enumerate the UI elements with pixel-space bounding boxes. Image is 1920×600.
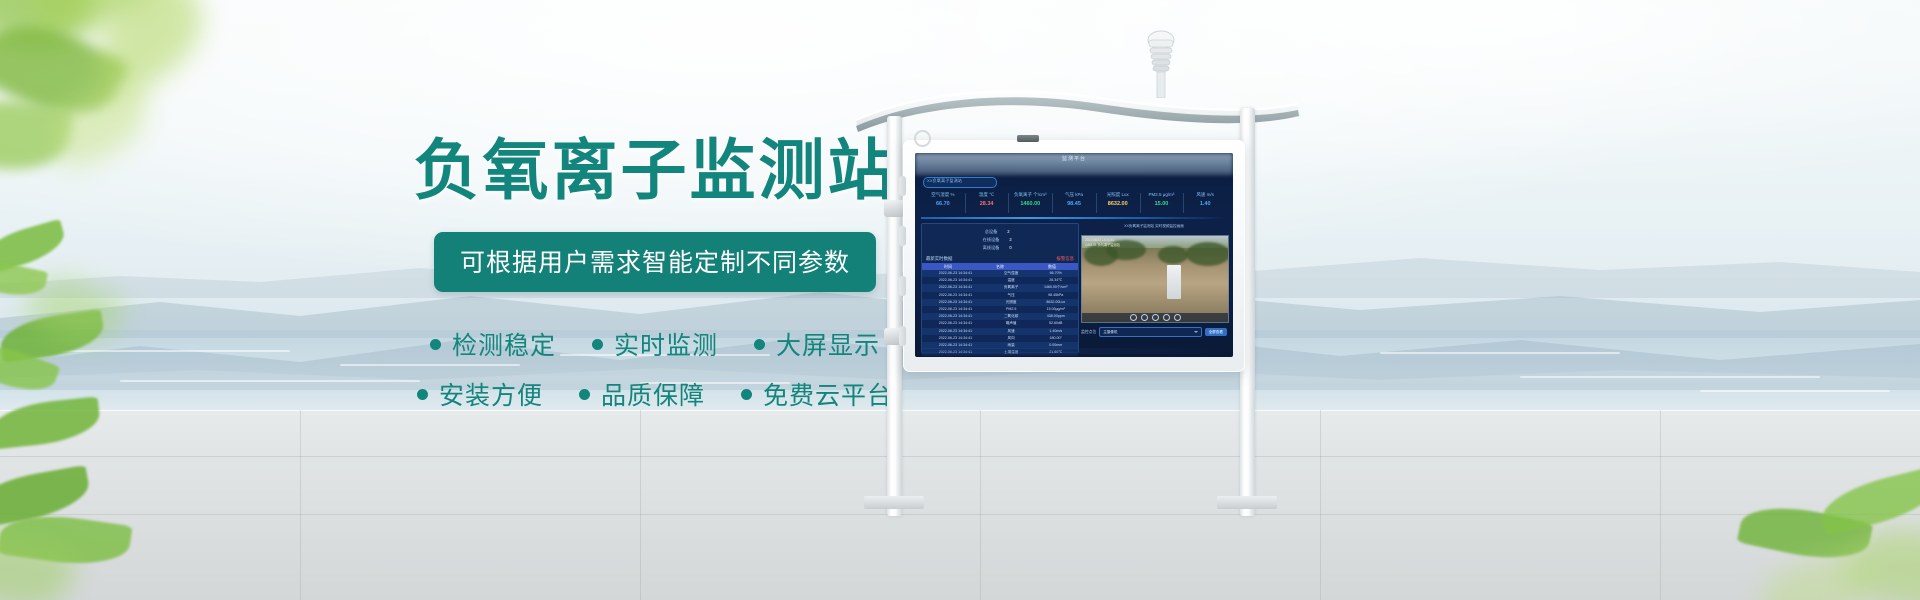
housing-hook-icon (914, 130, 931, 147)
table-row: 2022-06-23 14:34:41 风向 180.00° (922, 335, 1078, 342)
camera-select-label: 监控点位 (1081, 330, 1096, 335)
camera-station-object (1167, 265, 1181, 299)
housing-mount-ear (899, 326, 906, 346)
fullscreen-icon[interactable] (1174, 314, 1181, 321)
housing-mount-ear (899, 176, 906, 196)
column-header: 时间 (922, 263, 974, 270)
snapshot-icon[interactable] (1152, 314, 1159, 321)
counter-value: 2 (1009, 236, 1017, 244)
cell-value: 52.60dB (1033, 320, 1078, 327)
pause-icon[interactable] (1141, 314, 1148, 321)
post-clamp-upper (884, 200, 905, 217)
metric-value: 1460.00 (1008, 199, 1052, 209)
cell-name: 光照度 (989, 299, 1034, 306)
metric-card: 负氧离子 个/cm³ 1460.00 (1008, 190, 1052, 216)
cell-name: 噪声值 (989, 320, 1034, 327)
cell-name: 风速 (989, 328, 1034, 335)
cell-time: 2022-06-23 14:34:41 (922, 292, 989, 299)
housing-mount-ear (899, 276, 906, 296)
camera-caption: XX负氧离子监测站 实时视频监控画面 (1081, 223, 1227, 229)
dashboard-right-panel: ⚙ XX负氧离子监测站 实时视频监控画面 2022/06/23 14:34:41… (1081, 223, 1227, 351)
column-header: 名称 (974, 263, 1026, 270)
cell-value: 1460.00个/cm³ (1033, 284, 1078, 291)
cell-name: 温度 (989, 277, 1034, 284)
metric-value: 15.00 (1140, 199, 1184, 209)
kiosk-base-left (864, 496, 924, 509)
counter-label: 在线设备 (983, 236, 1000, 244)
metric-value: 8632.00 (1096, 199, 1140, 209)
metric-label: PM2.5 μg/m³ (1140, 190, 1184, 199)
table-title: 最新实时数据 (926, 256, 952, 262)
bullet-dot-icon (417, 389, 428, 400)
bullet-dot-icon (592, 339, 603, 350)
counter-value: 2 (1007, 228, 1015, 236)
subtitle-pill: 可根据用户需求智能定制不同参数 (434, 232, 876, 292)
site-selector-label: XX负氧离子监测站 (927, 178, 962, 184)
feature-label: 安装方便 (439, 376, 543, 412)
counter-row: 离线设备 0 (922, 244, 1078, 252)
feature-label: 实时监测 (614, 326, 718, 362)
metric-label: 光照度 Lux (1096, 190, 1140, 199)
cell-name: 风向 (989, 335, 1034, 342)
cell-name: 二氧化碳 (989, 313, 1034, 320)
metric-label: 风速 m/s (1183, 190, 1227, 199)
camera-video-feed[interactable]: 2022/06/23 14:34:41 CAM-01 负氧离子监测站 (1081, 235, 1229, 323)
feature-item: 检测稳定 (430, 326, 556, 362)
counter-label: 离线设备 (983, 244, 1000, 252)
cell-name: 气压 (989, 292, 1034, 299)
cell-value: 66.70% (1033, 270, 1078, 277)
metric-value: 1.40 (1183, 199, 1227, 209)
cell-time: 2022-06-23 14:34:41 (922, 299, 989, 306)
counter-row: 在线设备 2 (922, 236, 1078, 244)
housing-mount-ear (899, 226, 906, 246)
camera-fullscreen-button[interactable]: 全屏查看 (1205, 328, 1227, 336)
banner-root: 负氧离子监测站 可根据用户需求智能定制不同参数 检测稳定 实时监测 大屏显示 (0, 0, 1920, 600)
cell-time: 2022-06-23 14:34:41 (922, 270, 989, 277)
table-row: 2022-06-23 14:34:41 PM2.5 15.00μg/m³ (922, 306, 1078, 313)
counter-label: 总设备 (985, 228, 998, 236)
counter-row: 总设备 2 (922, 228, 1078, 236)
feature-item: 安装方便 (417, 376, 543, 412)
device-counters: 总设备 2 在线设备 2 离线设备 0 (922, 224, 1078, 255)
metric-card: PM2.5 μg/m³ 15.00 (1140, 190, 1184, 216)
metric-label: 气压 kPa (1052, 190, 1096, 199)
feature-label: 品质保障 (601, 376, 705, 412)
table-row: 2022-06-23 14:34:41 二氧化碳 438.00ppm (922, 313, 1078, 320)
housing-latch-icon (1017, 135, 1039, 142)
feature-label: 检测稳定 (452, 326, 556, 362)
metric-value: 66.70 (921, 199, 965, 209)
feature-item: 品质保障 (579, 376, 705, 412)
alarm-label[interactable]: 报警信息 (1056, 256, 1074, 262)
dashboard-title: 监测平台 (915, 155, 1233, 162)
outdoor-monitoring-kiosk: 监测平台 XX负氧离子监测站 空气湿度 % 66.70 温度 ℃ 28.34 负… (836, 28, 1316, 600)
column-header: 数值 (1026, 263, 1078, 270)
display-housing: 监测平台 XX负氧离子监测站 空气湿度 % 66.70 温度 ℃ 28.34 负… (903, 140, 1245, 372)
bullet-dot-icon (579, 389, 590, 400)
camera-osd-line2: CAM-01 负氧离子监测站 (1085, 243, 1120, 248)
cell-name: PM2.5 (989, 306, 1034, 313)
data-table-body: 2022-06-23 14:34:41 空气湿度 66.70% 2022-06-… (922, 270, 1078, 356)
counter-value: 0 (1009, 244, 1017, 252)
table-row: 2022-06-23 14:34:41 风速 1.40m/s (922, 328, 1078, 335)
metric-card: 气压 kPa 98.45 (1052, 190, 1096, 216)
camera-osd-overlay: 2022/06/23 14:34:41 CAM-01 负氧离子监测站 (1085, 238, 1120, 248)
table-row: 2022-06-23 14:34:41 负氧离子 1460.00个/cm³ (922, 284, 1078, 291)
table-column-headers: 时间 名称 数值 (922, 263, 1078, 270)
table-header-bar: 最新实时数据 报警信息 (922, 255, 1078, 263)
camera-select-dropdown[interactable]: 主摄像机 (1099, 327, 1201, 337)
cell-time: 2022-06-23 14:34:41 (922, 306, 989, 313)
table-row: 2022-06-23 14:34:41 噪声值 52.60dB (922, 320, 1078, 327)
metric-card: 空气湿度 % 66.70 (921, 190, 965, 216)
cell-value: 180.00° (1033, 335, 1078, 342)
cell-time: 2022-06-23 14:34:41 (922, 284, 989, 291)
bullet-dot-icon (741, 389, 752, 400)
monitoring-dashboard-screen[interactable]: 监测平台 XX负氧离子监测站 空气湿度 % 66.70 温度 ℃ 28.34 负… (915, 153, 1233, 357)
dashboard-footer-strip (921, 348, 1227, 354)
cell-value: 15.00μg/m³ (1033, 306, 1078, 313)
metric-card: 风速 m/s 1.40 (1183, 190, 1227, 216)
camera-control-bar[interactable] (1082, 313, 1228, 322)
bullet-dot-icon (754, 339, 765, 350)
metric-card-row: 空气湿度 % 66.70 温度 ℃ 28.34 负氧离子 个/cm³ 1460.… (921, 190, 1227, 216)
metric-value: 98.45 (1052, 199, 1096, 209)
play-icon[interactable] (1130, 314, 1137, 321)
metric-label: 负氧离子 个/cm³ (1008, 190, 1052, 199)
cell-value: 438.00ppm (1033, 313, 1078, 320)
record-icon[interactable] (1163, 314, 1170, 321)
cell-name: 负氧离子 (989, 284, 1034, 291)
cell-time: 2022-06-23 14:34:41 (922, 320, 989, 327)
cell-value: 8632.00Lux (1033, 299, 1078, 306)
table-row: 2022-06-23 14:34:41 光照度 8632.00Lux (922, 299, 1078, 306)
table-row: 2022-06-23 14:34:41 温度 28.34℃ (922, 277, 1078, 284)
camera-controls-row: 监控点位 主摄像机 全屏查看 (1081, 327, 1227, 337)
metric-card: 温度 ℃ 28.34 (965, 190, 1009, 216)
feature-item: 实时监测 (592, 326, 718, 362)
section-divider (921, 217, 1227, 219)
cell-value: 1.40m/s (1033, 328, 1078, 335)
cell-value: 28.34℃ (1033, 277, 1078, 284)
dashboard-left-panel: 总设备 2 在线设备 2 离线设备 0 最新实时数据 (921, 223, 1079, 353)
metric-card: 光照度 Lux 8632.00 (1096, 190, 1140, 216)
cell-name: 空气湿度 (989, 270, 1034, 277)
metric-value: 28.34 (965, 199, 1009, 209)
table-row: 2022-06-23 14:34:41 气压 98.45kPa (922, 292, 1078, 299)
kiosk-base-right (1217, 496, 1277, 509)
table-row: 2022-06-23 14:34:41 空气湿度 66.70% (922, 270, 1078, 277)
cell-value: 98.45kPa (1033, 292, 1078, 299)
cell-time: 2022-06-23 14:34:41 (922, 277, 989, 284)
bullet-dot-icon (430, 339, 441, 350)
cell-time: 2022-06-23 14:34:41 (922, 335, 989, 342)
cell-time: 2022-06-23 14:34:41 (922, 328, 989, 335)
metric-label: 温度 ℃ (965, 190, 1009, 199)
cell-time: 2022-06-23 14:34:41 (922, 313, 989, 320)
metric-label: 空气湿度 % (921, 190, 965, 199)
